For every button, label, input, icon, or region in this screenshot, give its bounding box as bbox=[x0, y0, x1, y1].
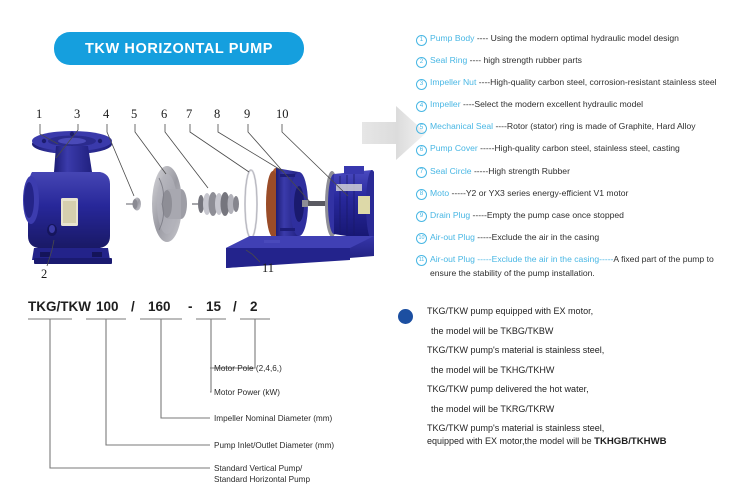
model-code-series: TKG/TKW bbox=[28, 299, 91, 314]
feature-dash-5: ---- bbox=[493, 121, 507, 131]
feature-desc-4: Select the modern excellent hydraulic mo… bbox=[474, 99, 643, 109]
callout-number-5: 5 bbox=[131, 107, 137, 121]
model-code-inlet: 100 bbox=[96, 299, 119, 314]
feature-item-2: 2Seal Ring ---- high strength rubber par… bbox=[416, 54, 754, 68]
feature-dash-11b: ----- bbox=[599, 254, 613, 264]
feature-item-9: 9Drain Plug -----Empty the pump case onc… bbox=[416, 209, 754, 223]
feature-number-7: 7 bbox=[416, 167, 427, 178]
feature-name-7: Seal Circle bbox=[430, 166, 472, 176]
variant-note-1: TKG/TKW pump equipped with EX motor, bbox=[427, 306, 754, 317]
feature-name-8: Moto bbox=[430, 188, 449, 198]
feature-item-11: 11Air-out Plug -----Exclude the air in t… bbox=[416, 253, 754, 280]
feature-dash-7: ----- bbox=[472, 166, 489, 176]
feature-desc-11b: A fixed part of the pump to bbox=[613, 254, 713, 264]
feature-item-6: 6Pump Cover -----High-quality carbon ste… bbox=[416, 142, 754, 156]
variant-note-4: the model will be TKHG/TKHW bbox=[431, 365, 754, 376]
feature-item-8: 8Moto -----Y2 or YX3 series energy-effic… bbox=[416, 187, 754, 201]
model-code-impeller: 160 bbox=[148, 299, 171, 314]
feature-number-3: 3 bbox=[416, 79, 427, 90]
feature-name-11: Air-out Plug bbox=[430, 254, 475, 264]
nomenclature-label-impeller-dia: Impeller Nominal Diameter (mm) bbox=[214, 414, 333, 423]
bullet-dot-icon bbox=[398, 309, 413, 324]
feature-item-3: 3Impeller Nut ----High-quality carbon st… bbox=[416, 76, 754, 90]
variant-note-5: TKG/TKW pump delivered the hot water, bbox=[427, 384, 754, 395]
callout-number-3: 3 bbox=[74, 107, 80, 121]
nomenclature-label-standard-2: Standard Horizontal Pump bbox=[214, 475, 310, 484]
callout-number-6: 6 bbox=[161, 107, 167, 121]
feature-number-6: 6 bbox=[416, 145, 427, 156]
feature-number-10: 10 bbox=[416, 233, 427, 244]
feature-dash-4: ---- bbox=[461, 99, 475, 109]
model-code-slash-1: / bbox=[131, 299, 135, 314]
callout-number-10: 10 bbox=[276, 107, 289, 121]
page-title-banner: TKW HORIZONTAL PUMP bbox=[54, 32, 304, 65]
model-code-poles: 2 bbox=[250, 299, 258, 314]
feature-dash-8: ----- bbox=[449, 188, 466, 198]
nomenclature-label-motor-power: Motor Power (kW) bbox=[214, 388, 280, 397]
feature-name-9: Drain Plug bbox=[430, 210, 470, 220]
feature-desc-9: Empty the pump case once stopped bbox=[487, 210, 624, 220]
feature-number-5: 5 bbox=[416, 123, 427, 134]
feature-number-1: 1 bbox=[416, 35, 427, 46]
feature-desc-11: Exclude the air in the casing bbox=[492, 254, 600, 264]
nomenclature-label-inlet-dia: Pump Inlet/Outlet Diameter (mm) bbox=[214, 441, 334, 450]
feature-name-5: Mechanical Seal bbox=[430, 121, 493, 131]
feature-desc-10: Exclude the air in the casing bbox=[492, 232, 600, 242]
feature-list: 1Pump Body ---- Using the modern optimal… bbox=[416, 32, 754, 288]
callout-number-11: 11 bbox=[262, 261, 274, 275]
feature-name-1: Pump Body bbox=[430, 33, 474, 43]
nomenclature-label-standard-1: Standard Vertical Pump/ bbox=[214, 464, 303, 473]
feature-name-2: Seal Ring bbox=[430, 55, 467, 65]
feature-dash-10: ----- bbox=[475, 232, 492, 242]
variant-note-8: equipped with EX motor,the model will be… bbox=[427, 436, 754, 447]
callout-number-4: 4 bbox=[103, 107, 110, 121]
feature-desc-11-continuation: ensure the stability of the pump install… bbox=[430, 267, 754, 279]
feature-name-10: Air-out Plug bbox=[430, 232, 475, 242]
feature-desc-7: High strength Rubber bbox=[488, 166, 570, 176]
feature-dash-6: ----- bbox=[478, 143, 495, 153]
variant-note-8-prefix: equipped with EX motor,the model will be bbox=[427, 436, 594, 446]
feature-desc-5: Rotor (stator) ring is made of Graphite,… bbox=[507, 121, 696, 131]
feature-number-8: 8 bbox=[416, 189, 427, 200]
callout-number-7: 7 bbox=[186, 107, 192, 121]
callout-number-9: 9 bbox=[244, 107, 250, 121]
variant-note-7: TKG/TKW pump's material is stainless ste… bbox=[427, 423, 754, 434]
feature-item-7: 7Seal Circle -----High strength Rubber bbox=[416, 165, 754, 179]
callout-number-2: 2 bbox=[41, 267, 47, 281]
feature-desc-2: high strength rubber parts bbox=[484, 55, 582, 65]
feature-number-9: 9 bbox=[416, 211, 427, 222]
feature-desc-1: Using the modern optimal hydraulic model… bbox=[491, 33, 679, 43]
feature-item-5: 5Mechanical Seal ----Rotor (stator) ring… bbox=[416, 120, 754, 134]
exploded-pump-diagram: 1 2 3 4 5 6 7 8 9 10 11 bbox=[14, 100, 374, 285]
feature-name-3: Impeller Nut bbox=[430, 77, 476, 87]
feature-name-4: Impeller bbox=[430, 99, 461, 109]
callout-number-8: 8 bbox=[214, 107, 220, 121]
feature-dash-9: ----- bbox=[470, 210, 487, 220]
feature-item-4: 4Impeller ----Select the modern excellen… bbox=[416, 98, 754, 112]
variant-note-8-model: TKHGB/TKHWB bbox=[594, 436, 666, 447]
feature-desc-8: Y2 or YX3 series energy-efficient V1 mot… bbox=[466, 188, 629, 198]
callout-number-1: 1 bbox=[36, 107, 42, 121]
feature-dash-1: ---- bbox=[474, 33, 490, 43]
model-code-power: 15 bbox=[206, 299, 222, 314]
variant-note-6: the model will be TKRG/TKRW bbox=[431, 404, 754, 415]
feature-item-10: 10Air-out Plug -----Exclude the air in t… bbox=[416, 231, 754, 245]
nomenclature-label-motor-pole: Motor Pole (2,4,6,) bbox=[214, 364, 282, 373]
feature-number-4: 4 bbox=[416, 101, 427, 112]
feature-name-6: Pump Cover bbox=[430, 143, 478, 153]
feature-desc-3: High-quality carbon steel, corrosion-res… bbox=[490, 77, 716, 87]
model-variant-notes: TKG/TKW pump equipped with EX motor, the… bbox=[398, 306, 754, 456]
feature-item-1: 1Pump Body ---- Using the modern optimal… bbox=[416, 32, 754, 46]
feature-number-2: 2 bbox=[416, 57, 427, 68]
page-title: TKW HORIZONTAL PUMP bbox=[85, 41, 273, 57]
feature-number-11: 11 bbox=[416, 255, 427, 266]
model-code-slash-2: / bbox=[233, 299, 237, 314]
feature-desc-6: High-quality carbon steel, stainless ste… bbox=[494, 143, 679, 153]
model-nomenclature-diagram: TKG/TKW 100 / 160 - 15 / 2 bbox=[14, 296, 394, 492]
variant-note-2: the model will be TKBG/TKBW bbox=[431, 326, 754, 337]
feature-dash-2: ---- bbox=[467, 55, 483, 65]
feature-dash-11: ----- bbox=[475, 254, 492, 264]
model-code-hyphen: - bbox=[188, 299, 193, 314]
variant-note-3: TKG/TKW pump's material is stainless ste… bbox=[427, 345, 754, 356]
feature-dash-3: ---- bbox=[476, 77, 490, 87]
